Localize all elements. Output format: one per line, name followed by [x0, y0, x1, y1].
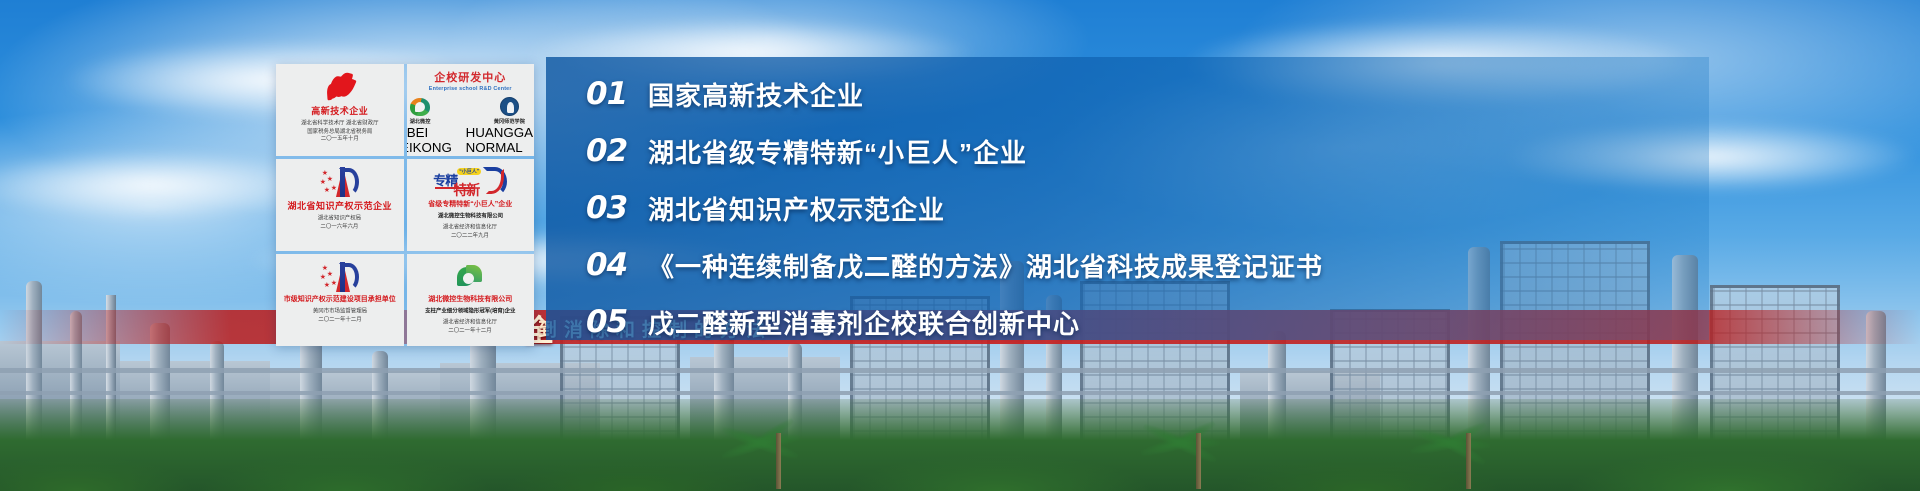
certificate-card-city-ip-demo[interactable]: ★★★ ★★ 市级知识产权示范建设项目承担单位 黄冈市市场监督管理局 二〇二一年…: [276, 254, 404, 346]
item-number: 04: [586, 247, 648, 283]
hubei-weikong-green-logo: [457, 259, 483, 295]
item-number: 05: [586, 304, 648, 340]
zhuanjingtexin-logo: 专精“小巨人” 特新: [433, 164, 507, 200]
flame-logo: [325, 69, 355, 105]
item-label: 《一种连续制备戊二醛的方法》湖北省科技成果登记证书: [648, 247, 1323, 284]
certificate-title: 企校研发中心: [434, 69, 506, 85]
certificate-title: 市级知识产权示范建设项目承担单位: [284, 296, 396, 304]
item-number: 03: [586, 190, 648, 226]
list-item[interactable]: 05 戊二醛新型消毒剂企校联合创新中心: [586, 298, 1706, 346]
certificate-issuer: 湖北省经济和信息化厅 二〇二一年十二月: [443, 319, 497, 335]
list-item[interactable]: 04 《一种连续制备戊二醛的方法》湖北省科技成果登记证书: [586, 241, 1706, 289]
certificate-title-en: Enterprise school R&D Center: [429, 86, 512, 92]
certificate-issuer: 湖北省知识产权局 二〇一六年六月: [318, 215, 361, 231]
certificate-title: 省级专精特新“小巨人”企业: [428, 201, 512, 209]
hubei-weikong-logo: 湖北微控 HUBEI WEIKONG CONTROL: [407, 98, 453, 156]
certificate-title: 高新技术企业: [311, 106, 368, 116]
certificate-card-little-giant[interactable]: 专精“小巨人” 特新 省级专精特新“小巨人”企业 湖北微控生物科技有限公司 湖北…: [407, 159, 535, 251]
certificate-issuer: 湖北省经济和信息化厅 二〇二二年九月: [443, 224, 497, 240]
certificate-issuer: 黄冈市市场监督管理局 二〇二一年十二月: [313, 308, 367, 324]
certificate-issuer: 湖北省科学技术厅 湖北省财政厅 国家税务总局湖北省税务局 二〇一五年十月: [301, 120, 378, 144]
item-label: 戊二醛新型消毒剂企校联合创新中心: [648, 304, 1080, 341]
green-belt: [0, 399, 1920, 491]
list-item[interactable]: 02 湖北省级专精特新“小巨人”企业: [586, 127, 1706, 175]
certificate-subtitle: 支柱产业细分领域隐形冠军(培育)企业: [425, 308, 515, 316]
certificate-card-hidden-champion[interactable]: 湖北微控生物科技有限公司 支柱产业细分领域隐形冠军(培育)企业 湖北省经济和信息…: [407, 254, 535, 346]
item-label: 湖北省知识产权示范企业: [648, 190, 945, 227]
certificate-title: 湖北微控生物科技有限公司: [428, 296, 512, 304]
certificate-card-rd-center[interactable]: 企校研发中心 Enterprise school R&D Center 湖北微控…: [407, 64, 535, 156]
ip-star-logo: ★★★ ★★: [320, 164, 360, 200]
item-number: 02: [586, 133, 648, 169]
list-item[interactable]: 01 国家高新技术企业: [586, 70, 1706, 118]
certificate-card-ip-demo[interactable]: ★★★ ★★ 湖北省知识产权示范企业 湖北省知识产权局 二〇一六年六月: [276, 159, 404, 251]
huanggang-normal-university-seal: 黄冈师范学院 HUANGGANG NORMAL UNIVERSITY: [466, 97, 534, 156]
certificate-card-high-tech[interactable]: 高新技术企业 湖北省科学技术厅 湖北省财政厅 国家税务总局湖北省税务局 二〇一五…: [276, 64, 404, 156]
banner-stage: 全 任何困难都可以找到消除和控制的方法 01 国家高新技术企业 02 湖北省级专…: [0, 0, 1920, 491]
highlights-list: 01 国家高新技术企业 02 湖北省级专精特新“小巨人”企业 03 湖北省知识产…: [586, 70, 1706, 355]
certificate-grid: 高新技术企业 湖北省科学技术厅 湖北省财政厅 国家税务总局湖北省税务局 二〇一五…: [276, 64, 534, 346]
certificate-subtitle: 湖北微控生物科技有限公司: [438, 213, 503, 221]
list-item[interactable]: 03 湖北省知识产权示范企业: [586, 184, 1706, 232]
item-label: 国家高新技术企业: [648, 76, 864, 113]
ip-star-logo: ★★★ ★★: [320, 259, 360, 295]
certificate-title: 湖北省知识产权示范企业: [287, 201, 392, 211]
item-label: 湖北省级专精特新“小巨人”企业: [648, 133, 1027, 170]
partner-logos: 湖北微控 HUBEI WEIKONG CONTROL 黄冈师范学院 HUANGG…: [407, 97, 535, 156]
item-number: 01: [586, 76, 648, 112]
